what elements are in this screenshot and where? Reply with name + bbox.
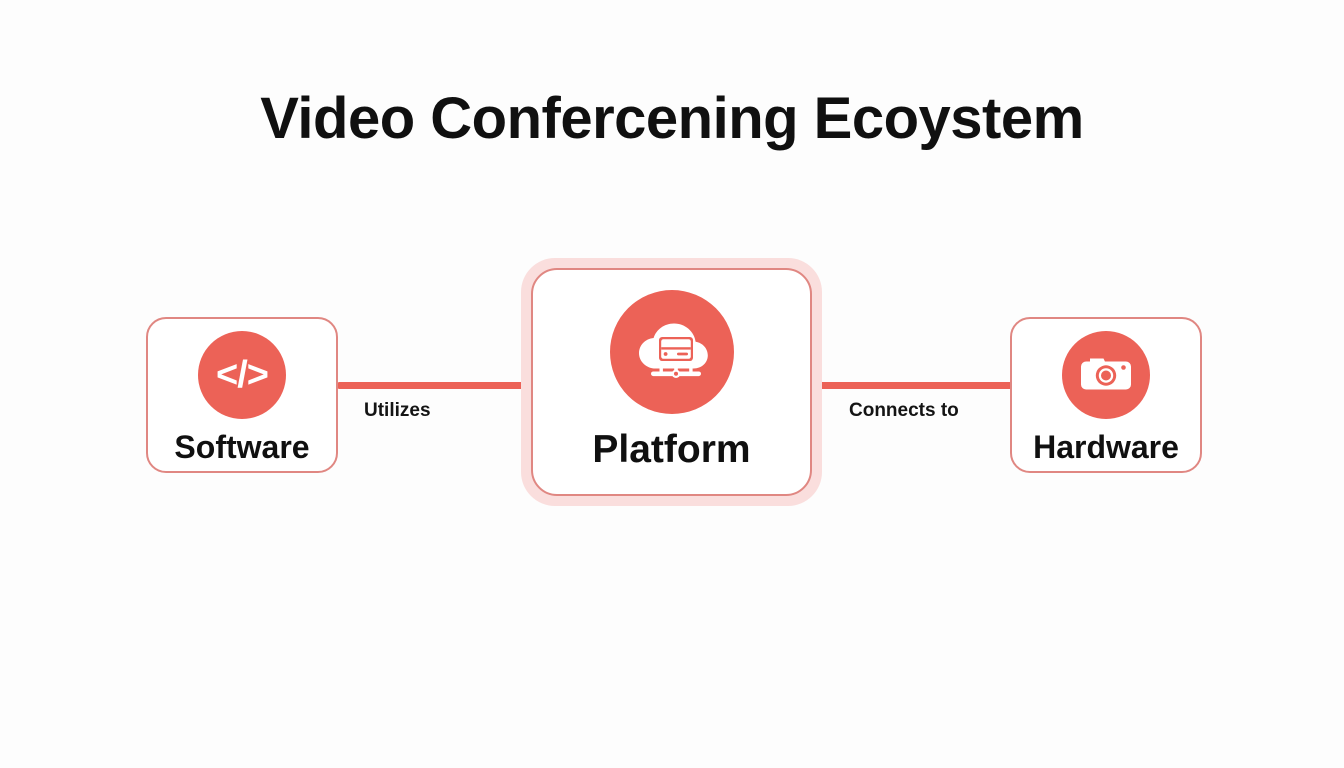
edge-label-utilizes: Utilizes bbox=[364, 401, 431, 420]
page-title: Video Confercening Ecoystem bbox=[0, 90, 1344, 148]
edge-line-software-platform bbox=[338, 382, 552, 389]
cloud-server-icon-svg bbox=[631, 314, 713, 390]
cloud-server-icon bbox=[610, 290, 734, 414]
camera-icon bbox=[1062, 331, 1150, 419]
diagram-canvas: Video Confercening Ecoystem Utilizes Con… bbox=[0, 0, 1344, 768]
code-icon: </> bbox=[198, 331, 286, 419]
node-label-platform: Platform bbox=[592, 430, 750, 469]
node-label-hardware: Hardware bbox=[1033, 431, 1179, 463]
code-icon-glyph: </> bbox=[216, 356, 268, 394]
camera-icon-svg bbox=[1078, 352, 1134, 398]
node-software[interactable]: </> Software bbox=[146, 317, 338, 473]
edge-line-platform-hardware bbox=[808, 382, 1014, 389]
node-label-software: Software bbox=[174, 431, 309, 463]
edge-label-connects-to: Connects to bbox=[849, 401, 959, 420]
node-hardware[interactable]: Hardware bbox=[1010, 317, 1202, 473]
node-platform[interactable]: Platform bbox=[531, 268, 812, 496]
